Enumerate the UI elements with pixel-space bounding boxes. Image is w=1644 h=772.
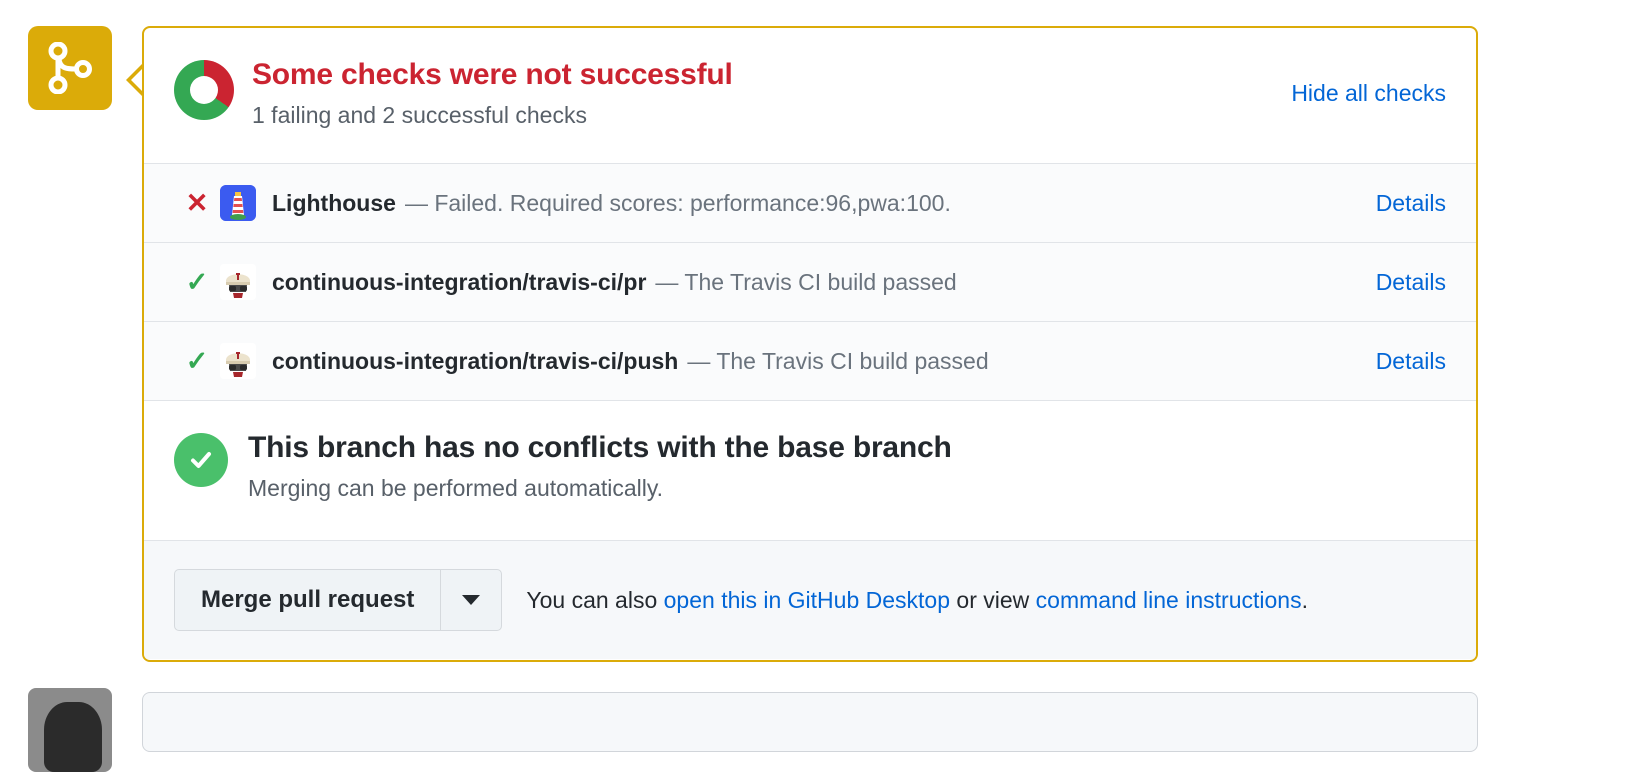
donut-chart-icon	[174, 60, 234, 120]
git-merge-badge	[28, 26, 112, 110]
helper-text-before: You can also	[526, 587, 663, 613]
checks-status-subtitle: 1 failing and 2 successful checks	[252, 101, 1446, 131]
check-icon: ✓	[174, 348, 220, 375]
chevron-down-icon	[462, 595, 480, 605]
check-dash: —	[405, 190, 428, 216]
checks-status-title: Some checks were not successful	[252, 56, 1446, 94]
github-desktop-link[interactable]: open this in GitHub Desktop	[664, 587, 950, 613]
merge-footer: Merge pull request You can also open thi…	[144, 541, 1476, 659]
merge-button-group: Merge pull request	[174, 569, 502, 631]
check-name[interactable]: Lighthouse	[272, 190, 396, 217]
check-details-link[interactable]: Details	[1376, 190, 1446, 217]
lighthouse-icon	[220, 185, 256, 221]
conflict-title: This branch has no conflicts with the ba…	[248, 429, 952, 467]
check-description-text: Failed. Required scores: performance:96,…	[434, 190, 951, 216]
travis-ci-icon	[220, 343, 256, 379]
check-icon: ✓	[174, 269, 220, 296]
check-circle-icon	[174, 433, 228, 487]
check-description: — The Travis CI build passed	[687, 348, 988, 375]
merge-status-box: Some checks were not successful 1 failin…	[142, 26, 1478, 662]
conflict-subtitle: Merging can be performed automatically.	[248, 475, 952, 502]
check-dash: —	[687, 348, 710, 374]
hide-all-checks-link[interactable]: Hide all checks	[1291, 80, 1446, 107]
branch-conflict-section: This branch has no conflicts with the ba…	[144, 401, 1476, 541]
next-timeline-card	[142, 692, 1478, 752]
travis-ci-icon	[220, 264, 256, 300]
check-details-link[interactable]: Details	[1376, 348, 1446, 375]
check-description-text: The Travis CI build passed	[684, 269, 956, 295]
user-avatar[interactable]	[28, 688, 112, 772]
check-row: ✓ continuous-integration/travis-ci/pr — …	[144, 243, 1476, 322]
checks-status-header: Some checks were not successful 1 failin…	[144, 28, 1476, 164]
conflict-text-group: This branch has no conflicts with the ba…	[248, 429, 952, 502]
git-merge-icon	[47, 42, 93, 94]
merge-options-dropdown-button[interactable]	[440, 569, 502, 631]
check-name[interactable]: continuous-integration/travis-ci/push	[272, 348, 678, 375]
x-icon: ✕	[174, 190, 220, 217]
command-line-instructions-link[interactable]: command line instructions	[1036, 587, 1302, 613]
check-description: — Failed. Required scores: performance:9…	[405, 190, 951, 217]
helper-text-middle: or view	[950, 587, 1036, 613]
check-row: ✓ continuous-integration/travis-ci/push …	[144, 322, 1476, 401]
merge-pull-request-button[interactable]: Merge pull request	[174, 569, 440, 631]
check-description-text: The Travis CI build passed	[716, 348, 988, 374]
merge-helper-text: You can also open this in GitHub Desktop…	[526, 587, 1308, 614]
check-description: — The Travis CI build passed	[655, 269, 956, 296]
check-name[interactable]: continuous-integration/travis-ci/pr	[272, 269, 646, 296]
helper-text-after: .	[1302, 587, 1308, 613]
check-details-link[interactable]: Details	[1376, 269, 1446, 296]
check-dash: —	[655, 269, 678, 295]
status-text-group: Some checks were not successful 1 failin…	[252, 54, 1446, 130]
check-row: ✕ Lighthouse — Failed. Required scores: …	[144, 164, 1476, 243]
